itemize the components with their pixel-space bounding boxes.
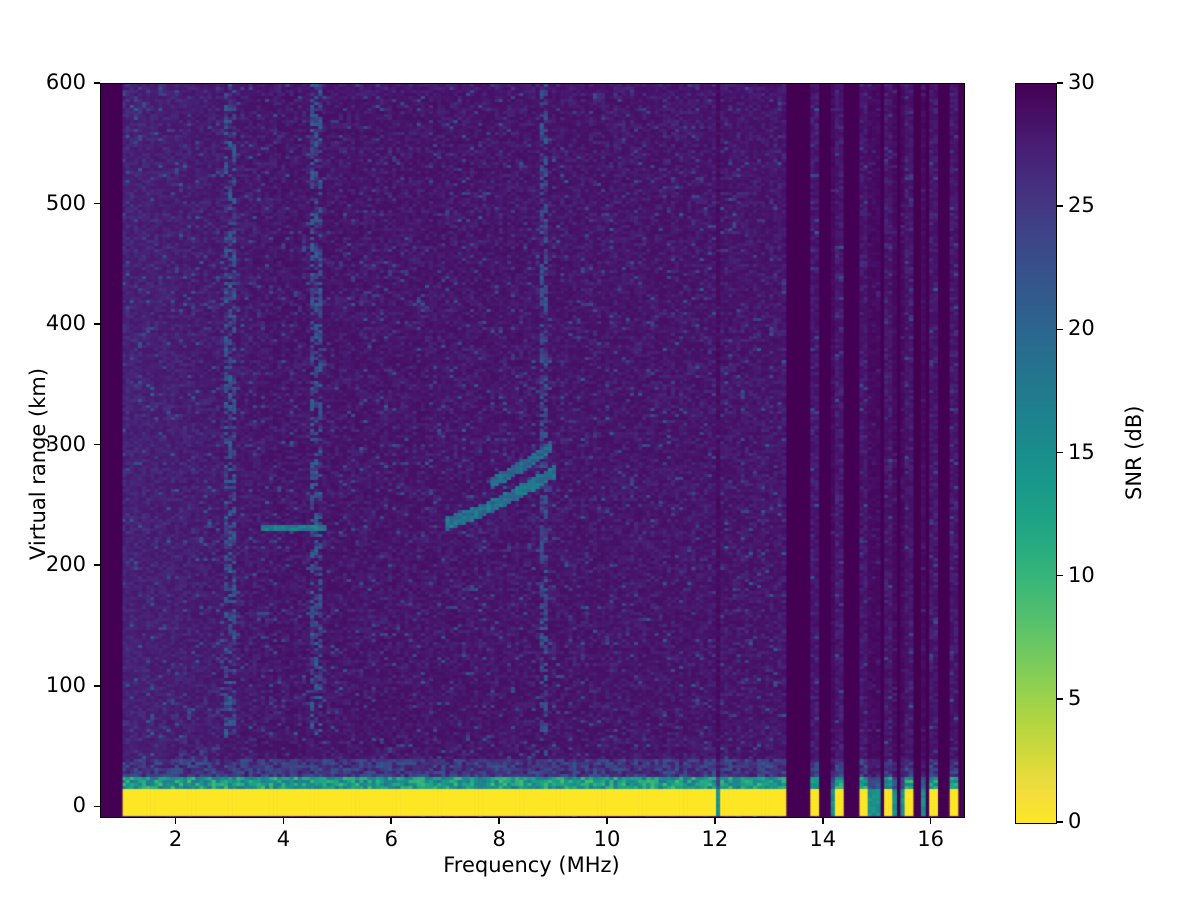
y-tick-label: 600 (0, 70, 86, 94)
x-tick-label: 14 (793, 827, 853, 851)
y-axis-label: Virtual range (km) (26, 368, 50, 560)
x-tick-mark (390, 818, 392, 824)
x-tick-mark (175, 818, 177, 824)
colorbar-tick-mark (1057, 205, 1063, 207)
colorbar-tick-label: 30 (1068, 70, 1095, 94)
x-tick-label: 2 (146, 827, 206, 851)
y-tick-label: 400 (0, 311, 86, 335)
x-tick-mark (498, 818, 500, 824)
y-tick-label: 100 (0, 673, 86, 697)
colorbar-tick-label: 0 (1068, 809, 1081, 833)
y-tick-mark (94, 82, 100, 84)
colorbar-tick-mark (1057, 821, 1063, 823)
x-tick-label: 4 (253, 827, 313, 851)
x-tick-label: 8 (469, 827, 529, 851)
x-tick-mark (822, 818, 824, 824)
colorbar-tick-mark (1057, 329, 1063, 331)
x-tick-mark (714, 818, 716, 824)
x-tick-label: 10 (577, 827, 637, 851)
y-tick-mark (94, 323, 100, 325)
y-tick-mark (94, 806, 100, 808)
colorbar-gradient (1016, 84, 1056, 823)
colorbar (1015, 83, 1057, 824)
ionogram-heatmap (101, 84, 964, 817)
x-tick-label: 16 (901, 827, 961, 851)
y-tick-mark (94, 203, 100, 205)
colorbar-tick-label: 20 (1068, 316, 1095, 340)
colorbar-tick-mark (1057, 452, 1063, 454)
y-tick-label: 0 (0, 793, 86, 817)
colorbar-tick-label: 25 (1068, 193, 1095, 217)
colorbar-tick-mark (1057, 698, 1063, 700)
colorbar-tick-mark (1057, 82, 1063, 84)
x-tick-label: 6 (361, 827, 421, 851)
y-tick-mark (94, 564, 100, 566)
x-tick-mark (606, 818, 608, 824)
x-axis-label: Frequency (MHz) (100, 853, 963, 877)
y-tick-mark (94, 444, 100, 446)
colorbar-tick-label: 15 (1068, 440, 1095, 464)
colorbar-label: SNR (dB) (1122, 406, 1146, 500)
colorbar-tick-label: 5 (1068, 686, 1081, 710)
heatmap-plot-area (100, 83, 965, 818)
colorbar-tick-label: 10 (1068, 563, 1095, 587)
y-tick-mark (94, 685, 100, 687)
y-tick-label: 500 (0, 191, 86, 215)
x-tick-label: 12 (685, 827, 745, 851)
ionogram-figure: IRF Uppsala SDR Ionosonde UP158 2026-03-… (0, 0, 1200, 900)
colorbar-tick-mark (1057, 575, 1063, 577)
x-tick-mark (283, 818, 285, 824)
x-tick-mark (930, 818, 932, 824)
